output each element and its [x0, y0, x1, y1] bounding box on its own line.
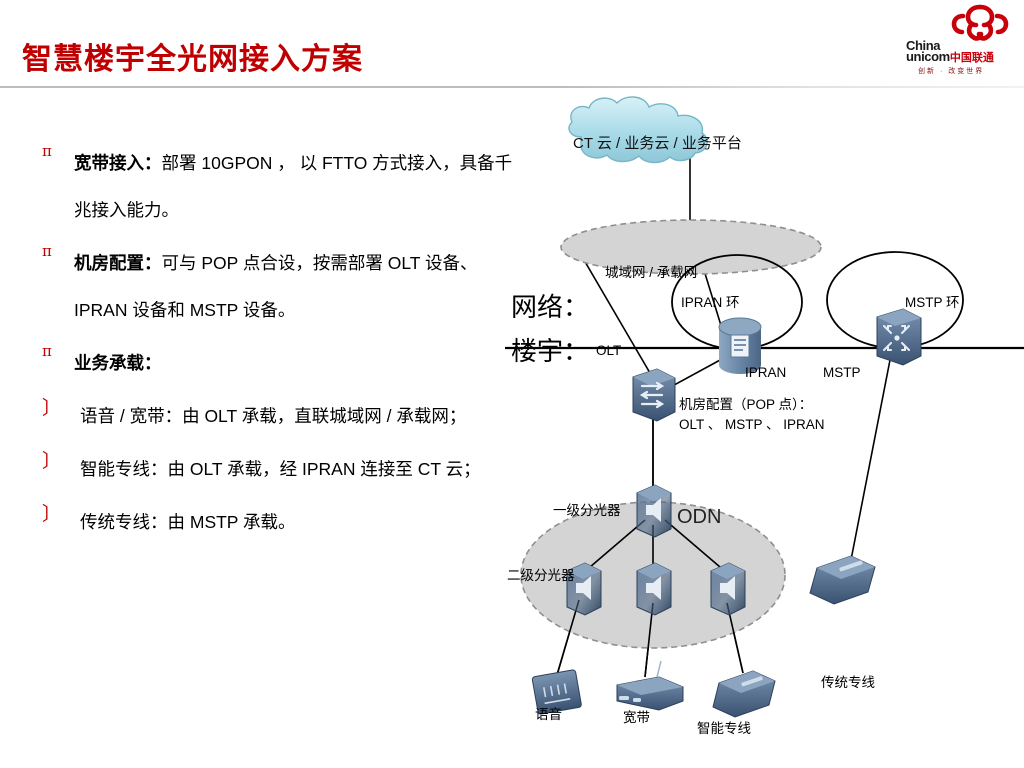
pop-room-config-line1: 机房配置（POP 点）： [679, 397, 812, 414]
broadband-label: 宽带 [623, 710, 650, 727]
smart-line-label: 智能专线 [697, 721, 751, 738]
logo-tagline: 创新 · 改变世界 [918, 66, 984, 76]
bullet-item-broadband-access: π 宽带接入：部署 10GPON ， 以 FTTO 方式接入，具备千兆接入能力。 [34, 140, 514, 234]
bullet-item-legacy-line: 〕 传统专线：由 MSTP 承载。 [34, 499, 514, 546]
bullet-text: 语音 / 宽带：由 OLT 承载，直联城域网 / 承载网； [80, 393, 514, 440]
sub-bullet-marker-icon: 〕 [42, 446, 61, 473]
bullet-list: π 宽带接入：部署 10GPON ， 以 FTTO 方式接入，具备千兆接入能力。… [34, 140, 514, 552]
bullet-text: 机房配置：可与 POP 点合设，按需部署 OLT 设备、 IPRAN 设备和 M… [74, 240, 514, 334]
splitter-level2-right-icon [711, 563, 745, 615]
mstp-device-icon [877, 309, 921, 365]
pop-room-config-line2: OLT 、 MSTP 、 IPRAN [679, 417, 825, 434]
ipran-ring-label: IPRAN 环 [681, 295, 740, 312]
bullet-lead: 机房配置： [74, 253, 162, 273]
odn-label: ODN [677, 505, 721, 530]
olt-label: OLT [596, 343, 621, 360]
voice-label: 语音 [535, 707, 562, 724]
bullet-text: 业务承载： [74, 340, 514, 387]
bullet-item-room-config: π 机房配置：可与 POP 点合设，按需部署 OLT 设备、 IPRAN 设备和… [34, 240, 514, 334]
mstp-label: MSTP [823, 365, 861, 382]
network-topology-diagram: CT 云 / 业务云 / 业务平台 城域网 / 承载网 网络： 楼宇： IPRA… [505, 95, 1024, 755]
legacy-line-label: 传统专线 [821, 675, 875, 692]
logo-wordmark-line2: unicom [906, 49, 950, 64]
splitter-level1-label: 一级分光器 [553, 503, 621, 520]
ipran-label: IPRAN [745, 365, 786, 382]
bullet-marker-icon: π [42, 342, 52, 360]
logo-wordmark: China unicom中国联通 [906, 40, 994, 64]
sub-bullet-marker-icon: 〕 [42, 393, 61, 420]
smart-line-device-icon [713, 671, 775, 717]
network-row-label: 网络： [511, 291, 589, 324]
splitter-level1-icon [637, 485, 671, 537]
china-unicom-logo: China unicom中国联通 创新 · 改变世界 [904, 4, 1016, 78]
bullet-text: 传统专线：由 MSTP 承载。 [80, 499, 514, 546]
bullet-item-service-bearing: π 业务承载： [34, 340, 514, 387]
bullet-lead: 宽带接入： [74, 153, 162, 173]
logo-wordmark-cn: 中国联通 [950, 52, 994, 64]
olt-device-icon [633, 369, 675, 421]
bullet-item-voice-broadband: 〕 语音 / 宽带：由 OLT 承载，直联城域网 / 承载网； [34, 393, 514, 440]
broadband-device-icon [617, 661, 683, 710]
ct-cloud-label: CT 云 / 业务云 / 业务平台 [573, 135, 742, 154]
bullet-marker-icon: π [42, 242, 52, 260]
slide-root: 智慧楼宇全光网接入方案 China unicom中国联通 创新 · 改变世界 [0, 0, 1024, 768]
header-divider [0, 86, 1024, 88]
bullet-text: 智能专线：由 OLT 承载，经 IPRAN 连接至 CT 云； [80, 446, 514, 493]
bullet-marker-icon: π [42, 142, 52, 160]
page-title: 智慧楼宇全光网接入方案 [22, 34, 363, 78]
bullet-lead: 业务承载： [74, 353, 162, 373]
mstp-ring-label: MSTP 环 [905, 295, 960, 312]
legacy-line-device-icon [810, 556, 875, 604]
bullet-item-smart-line: 〕 智能专线：由 OLT 承载，经 IPRAN 连接至 CT 云； [34, 446, 514, 493]
splitter-level2-mid-icon [637, 563, 671, 615]
building-row-label: 楼宇： [511, 335, 589, 368]
splitter-level2-label: 二级分光器 [507, 568, 575, 585]
bullet-text: 宽带接入：部署 10GPON ， 以 FTTO 方式接入，具备千兆接入能力。 [74, 140, 514, 234]
metro-bearer-label: 城域网 / 承载网 [605, 265, 697, 282]
sub-bullet-marker-icon: 〕 [42, 499, 61, 526]
